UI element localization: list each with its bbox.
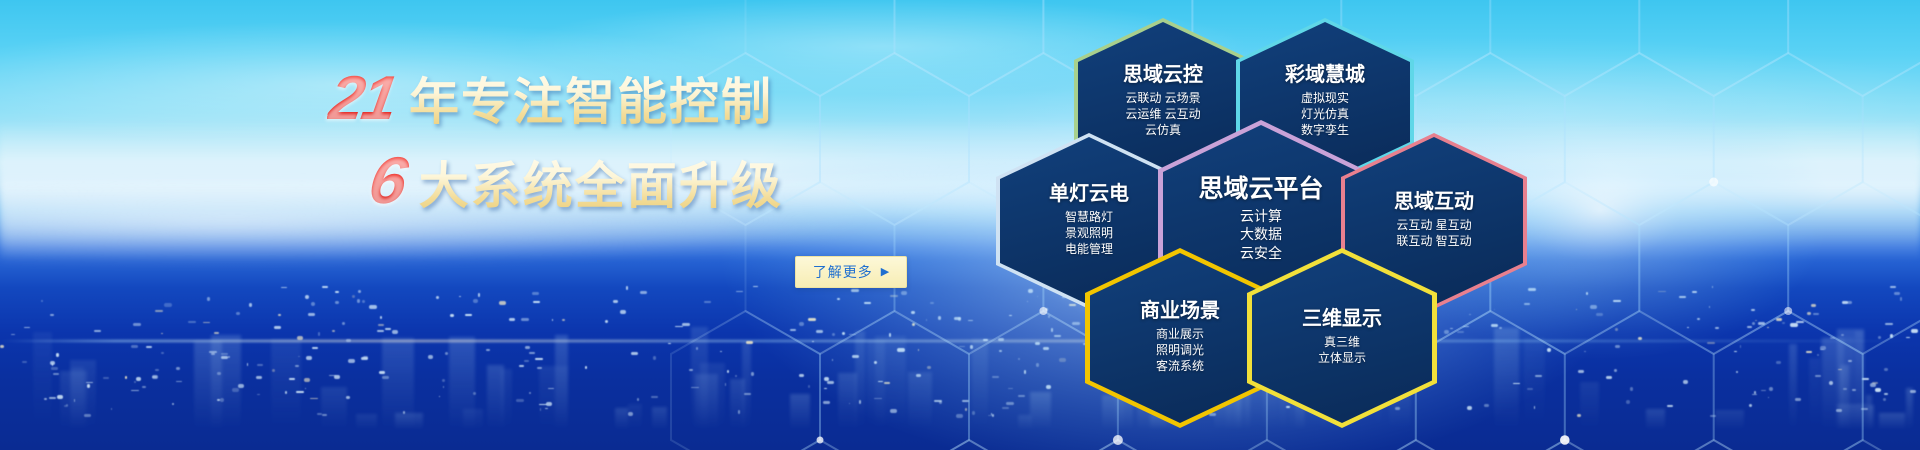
headline-text-1: 年专注智能控制 (409, 62, 773, 134)
hexagon-item: 云联动 云场景 (1125, 91, 1200, 107)
hexagon-item: 云运维 云互动 (1125, 107, 1200, 123)
hexagon-item: 云互动 星互动 (1396, 218, 1471, 234)
city-light-horizon (0, 340, 1920, 342)
hexagon-title-siyu-yunpingtai: 思域云平台 (1198, 176, 1323, 202)
hexagon-items-shangye-changjing: 商业展示照明调光客流系统 (1156, 327, 1204, 374)
hexagon-item: 数字孪生 (1301, 123, 1349, 139)
play-arrow-icon: ▶ (881, 267, 889, 278)
headline-block: 21 年专注智能控制 6 大系统全面升级 (330, 62, 970, 218)
hexagon-items-siyu-hudong: 云互动 星互动联互动 智互动 (1396, 218, 1471, 250)
hexagon-item: 大数据 (1240, 225, 1282, 243)
hexagon-item: 景观照明 (1065, 226, 1113, 242)
hexagon-items-sanwei-xianshi: 真三维立体显示 (1318, 335, 1366, 367)
city-lights (0, 190, 1920, 450)
hexagon-item: 联互动 智互动 (1396, 234, 1471, 250)
hexagon-item: 智慧路灯 (1065, 210, 1113, 226)
hexagon-item: 电能管理 (1065, 242, 1113, 258)
hexagon-items-dandeng-yundian: 智慧路灯景观照明电能管理 (1065, 210, 1113, 257)
hexagon-title-dandeng-yundian: 单灯云电 (1049, 184, 1129, 205)
hexagon-items-siyu-yunpingtai: 云计算大数据云安全 (1240, 207, 1282, 262)
hexagon-item: 云仿真 (1125, 123, 1200, 139)
hexagon-title-siyu-yunkong: 思域云控 (1123, 65, 1203, 86)
headline-line-1: 21 年专注智能控制 (330, 62, 970, 134)
hexagon-item: 商业展示 (1156, 327, 1204, 343)
hexagon-title-caiyu-huicheng: 彩域慧城 (1285, 65, 1365, 86)
hexagon-item: 真三维 (1318, 335, 1366, 351)
hexagon-item: 云安全 (1240, 244, 1282, 262)
hexagon-title-siyu-hudong: 思域互动 (1394, 192, 1474, 213)
headline-number-6: 6 (364, 142, 425, 218)
hexagon-items-caiyu-huicheng: 虚拟现实灯光仿真数字孪生 (1301, 91, 1349, 138)
headline-line-2: 6 大系统全面升级 (370, 142, 970, 218)
promo-banner: 21 年专注智能控制 6 大系统全面升级 了解更多 ▶ 思域云控云联动 云场景云… (0, 0, 1920, 450)
learn-more-button[interactable]: 了解更多 ▶ (795, 256, 907, 288)
learn-more-label: 了解更多 (813, 262, 873, 282)
hexagon-item: 客流系统 (1156, 359, 1204, 375)
city-skyline-background (0, 190, 1920, 450)
hexagon-item: 照明调光 (1156, 343, 1204, 359)
hexagon-title-shangye-changjing: 商业场景 (1140, 301, 1220, 322)
headline-number-21: 21 (324, 63, 414, 134)
hexagon-items-siyu-yunkong: 云联动 云场景云运维 云互动云仿真 (1125, 91, 1200, 138)
city-towers (0, 190, 1920, 450)
hexagon-item: 立体显示 (1318, 351, 1366, 367)
hexagon-item: 云计算 (1240, 207, 1282, 225)
hexagon-item: 灯光仿真 (1301, 107, 1349, 123)
hexagon-title-sanwei-xianshi: 三维显示 (1302, 309, 1382, 330)
hexagon-item: 虚拟现实 (1301, 91, 1349, 107)
headline-text-2: 大系统全面升级 (419, 146, 783, 218)
